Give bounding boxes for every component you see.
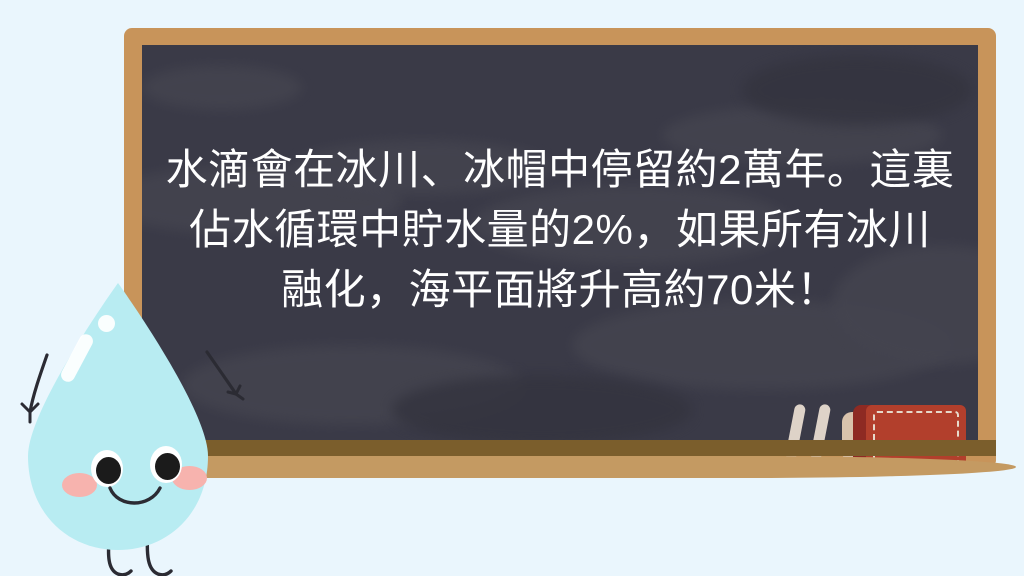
chalk-smudge (142, 65, 302, 110)
chalk-smudge (392, 375, 692, 440)
blackboard-text-line-2: 佔水循環中貯水量的2%，如果所有冰川 (150, 200, 970, 260)
slide-canvas: 水滴會在冰川、冰帽中停留約2萬年。這裏 佔水循環中貯水量的2%，如果所有冰川 融… (0, 0, 1024, 576)
blackboard-text: 水滴會在冰川、冰帽中停留約2萬年。這裏 佔水循環中貯水量的2%，如果所有冰川 融… (150, 140, 970, 320)
chalk-smudge (742, 55, 972, 125)
droplet-highlight-dot (98, 315, 115, 332)
blackboard-text-line-1: 水滴會在冰川、冰帽中停留約2萬年。這裏 (150, 140, 970, 200)
pupil-left (96, 457, 121, 484)
droplet-body (0, 270, 260, 576)
water-droplet-mascot (0, 270, 260, 576)
blackboard-text-line-3: 融化，海平面將升高約70米！ (150, 260, 970, 320)
pupil-right (155, 453, 180, 480)
mouth-smile-icon (104, 484, 174, 516)
